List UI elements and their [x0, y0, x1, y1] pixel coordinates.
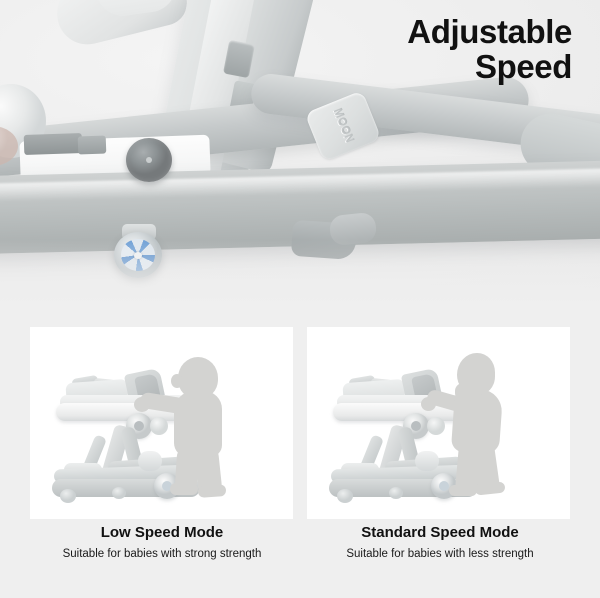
- baby-head: [178, 357, 218, 399]
- grey-wheel-icon: [126, 138, 172, 182]
- baby-foot-left: [170, 483, 198, 495]
- baby-foot-right: [475, 481, 506, 495]
- baby-hand: [134, 397, 150, 412]
- caption-low-speed: Low Speed Mode Suitable for babies with …: [22, 524, 302, 562]
- walker-grey-tab-secondary: [78, 136, 107, 155]
- headline-line-2: Speed: [407, 49, 572, 84]
- caption-title: Low Speed Mode: [22, 524, 302, 542]
- caption-standard-speed: Standard Speed Mode Suitable for babies …: [300, 524, 580, 562]
- mode-captions: Low Speed Mode Suitable for babies with …: [0, 524, 600, 584]
- baby-silhouette-upright: [30, 327, 293, 519]
- caption-subtitle: Suitable for babies with less strength: [300, 546, 580, 562]
- headline-line-1: Adjustable: [407, 13, 572, 50]
- baby-ear: [171, 374, 183, 388]
- walker-grey-tab: [24, 133, 83, 155]
- baby-torso: [174, 391, 222, 457]
- mode-card-low-speed[interactable]: [30, 327, 293, 519]
- baby-foot-left: [449, 485, 477, 496]
- baby-hand: [421, 397, 436, 411]
- mode-panels: [0, 327, 600, 519]
- caption-subtitle: Suitable for babies with strong strength: [22, 546, 302, 562]
- mode-card-standard-speed[interactable]: [307, 327, 570, 519]
- baby-silhouette-leaning: [307, 327, 570, 519]
- caption-title: Standard Speed Mode: [300, 524, 580, 542]
- brand-plate-label: MOON: [331, 107, 356, 145]
- hero-bottom-fade: [0, 240, 600, 330]
- page-title: Adjustable Speed: [407, 14, 572, 84]
- baby-foot-right: [198, 484, 227, 498]
- product-feature-image: MOON Adjustable Speed: [0, 0, 600, 598]
- mode-illustration-standard-speed: [307, 327, 570, 519]
- baby-head: [457, 353, 495, 395]
- mode-illustration-low-speed: [30, 327, 293, 519]
